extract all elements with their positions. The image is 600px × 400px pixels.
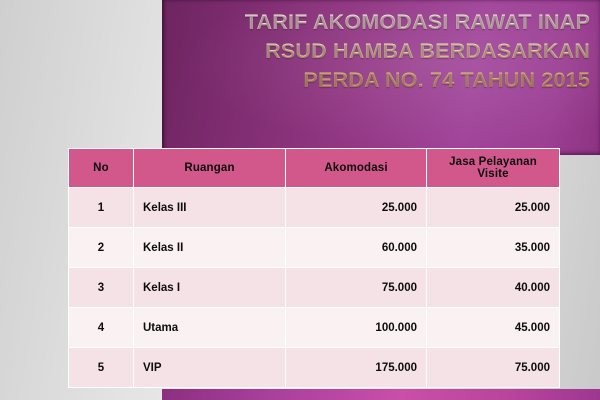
presentation-slide: TARIF AKOMODASI RAWAT INAP RSUD HAMBA BE… (0, 0, 600, 400)
table-row: 1Kelas III25.00025.000 (69, 188, 559, 227)
cell-ruangan: VIP (134, 348, 285, 387)
table-header-row: No Ruangan Akomodasi Jasa Pelayanan Visi… (69, 149, 559, 187)
cell-ruangan: Kelas II (134, 228, 285, 267)
table-header: No Ruangan Akomodasi Jasa Pelayanan Visi… (69, 149, 559, 187)
cell-jasa-pelayanan-visite: 25.000 (427, 188, 559, 227)
cell-akomodasi: 75.000 (286, 268, 426, 307)
cell-akomodasi: 25.000 (286, 188, 426, 227)
cell-no: 2 (69, 228, 133, 267)
bottom-accent-bar (162, 389, 600, 400)
cell-akomodasi: 60.000 (286, 228, 426, 267)
table-row: 3Kelas I75.00040.000 (69, 268, 559, 307)
table-row: 4Utama100.00045.000 (69, 308, 559, 347)
cell-ruangan: Utama (134, 308, 285, 347)
column-header-ruangan: Ruangan (134, 149, 285, 187)
column-header-jasa-pelayanan-visite: Jasa Pelayanan Visite (427, 149, 559, 187)
column-header-akomodasi: Akomodasi (286, 149, 426, 187)
cell-jasa-pelayanan-visite: 35.000 (427, 228, 559, 267)
cell-jasa-pelayanan-visite: 45.000 (427, 308, 559, 347)
cell-jasa-pelayanan-visite: 75.000 (427, 348, 559, 387)
title-banner: TARIF AKOMODASI RAWAT INAP RSUD HAMBA BE… (162, 0, 600, 155)
cell-no: 4 (69, 308, 133, 347)
cell-no: 5 (69, 348, 133, 387)
table-row: 2Kelas II60.00035.000 (69, 228, 559, 267)
column-header-no: No (69, 149, 133, 187)
table-row: 5VIP175.00075.000 (69, 348, 559, 387)
cell-ruangan: Kelas III (134, 188, 285, 227)
cell-akomodasi: 100.000 (286, 308, 426, 347)
tariff-table: No Ruangan Akomodasi Jasa Pelayanan Visi… (68, 148, 560, 388)
cell-jasa-pelayanan-visite: 40.000 (427, 268, 559, 307)
page-title: TARIF AKOMODASI RAWAT INAP RSUD HAMBA BE… (162, 8, 590, 95)
cell-akomodasi: 175.000 (286, 348, 426, 387)
cell-ruangan: Kelas I (134, 268, 285, 307)
cell-no: 1 (69, 188, 133, 227)
table-body: 1Kelas III25.00025.0002Kelas II60.00035.… (69, 188, 559, 387)
cell-no: 3 (69, 268, 133, 307)
